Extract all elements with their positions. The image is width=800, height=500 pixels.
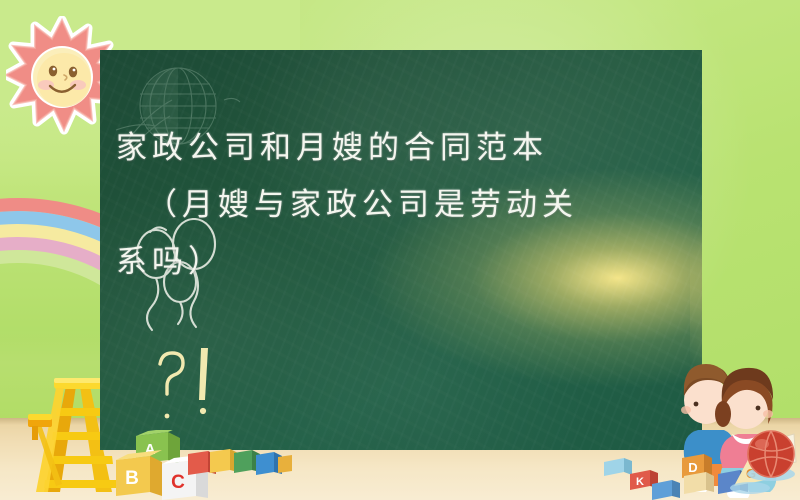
svg-text:C: C <box>171 472 185 493</box>
ball-decoration <box>742 428 800 482</box>
headline: 家政公司和月嫂的合同范本 （月嫂与家政公司是劳动关 系吗） <box>116 120 696 291</box>
banner-image: 家政公司和月嫂的合同范本 （月嫂与家政公司是劳动关 系吗） <box>0 0 800 500</box>
headline-line-3: 系吗） <box>116 234 696 291</box>
svg-text:D: D <box>688 460 697 475</box>
alphabet-blocks-row-decoration <box>188 444 298 478</box>
chalkboard: 家政公司和月嫂的合同范本 （月嫂与家政公司是劳动关 系吗） <box>100 50 702 450</box>
svg-text:B: B <box>125 468 139 489</box>
question-exclamation-mark <box>148 340 228 436</box>
svg-text:K: K <box>636 476 644 488</box>
headline-line-1: 家政公司和月嫂的合同范本 <box>116 120 696 177</box>
headline-line-2: （月嫂与家政公司是劳动关 <box>116 177 696 234</box>
